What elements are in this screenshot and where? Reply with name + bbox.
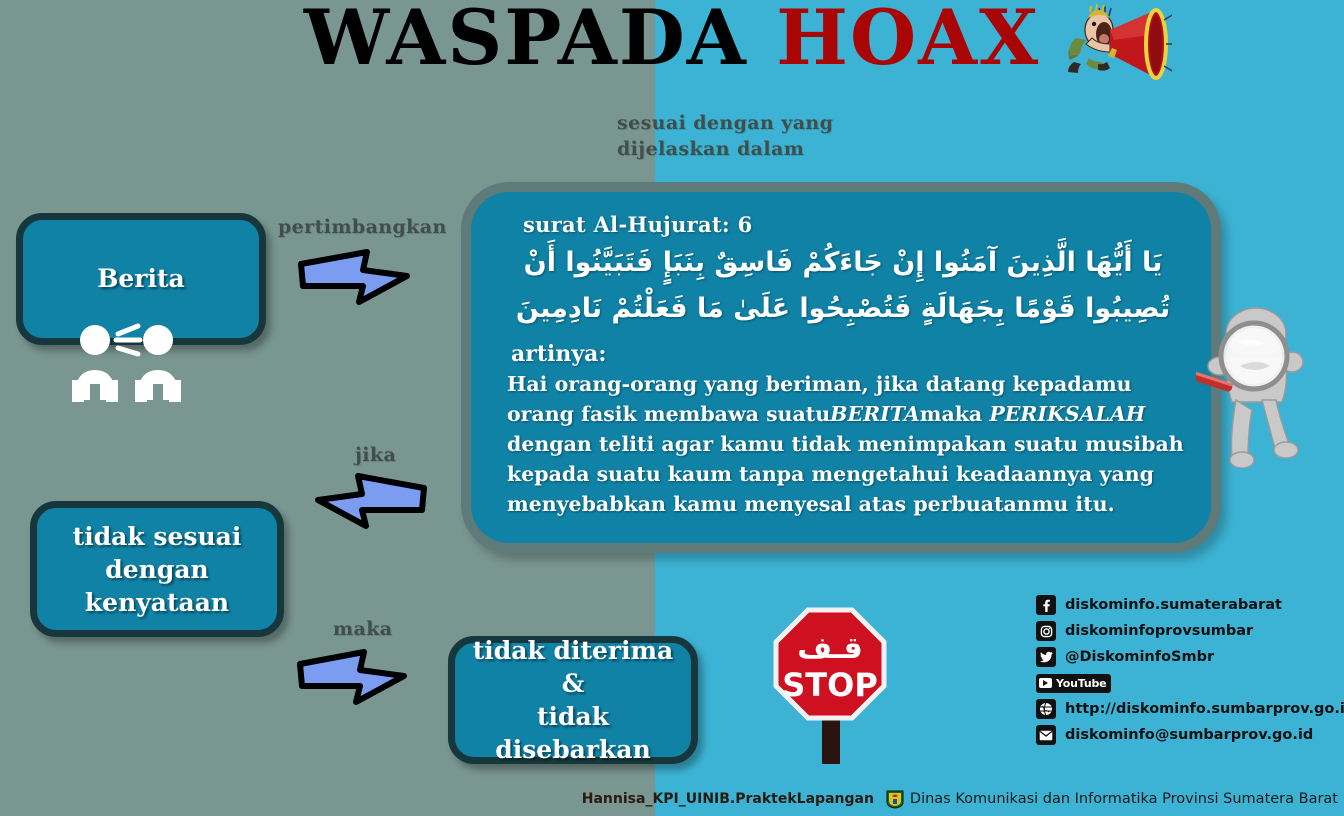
verse-meaning-label: artinya:	[511, 341, 1193, 367]
label-sesuai-line2: dijelaskan dalam	[617, 136, 833, 162]
figure-with-magnifying-glass-icon	[1196, 300, 1314, 468]
contact-row-website[interactable]: http://diskominfo.sumbarprov.go.id	[1036, 696, 1344, 722]
arrow-right-maka	[296, 648, 408, 710]
box-tidak-sesuai-dengan-kenyataan[interactable]: tidak sesuaidengankenyataan	[30, 501, 284, 637]
contact-row-instagram[interactable]: diskominfoprovsumbar	[1036, 618, 1344, 644]
footer-bar: Hannisa_KPI_UINIB.PraktekLapangan Dinas …	[0, 782, 1344, 816]
box-berita-label: Berita	[97, 264, 184, 293]
megaphone-shouting-icon	[1052, 4, 1172, 86]
verse-arabic-line-2: تُصِيبُوا قَوْمًا بِجَهَالَةٍ فَتُصْبِحُ…	[497, 287, 1189, 331]
footer-credit: Hannisa_KPI_UINIB.PraktekLapangan	[582, 791, 874, 807]
translation-emphasis-berita: BERITA	[830, 402, 920, 426]
globe-icon	[1036, 699, 1056, 719]
box-tidak-diterima-tidak-disebarkan[interactable]: tidak diterima&tidak disebarkan	[448, 636, 698, 764]
two-people-talking-icon	[60, 322, 200, 402]
facebook-icon	[1036, 595, 1056, 615]
stop-sign-icon: قـف STOP	[772, 606, 888, 766]
contact-list: diskominfo.sumaterabarat diskominfoprovs…	[1036, 592, 1344, 748]
quran-verse-panel: surat Al-Hujurat: 6 يَا أَيُّهَا الَّذِي…	[461, 182, 1221, 553]
twitter-icon	[1036, 647, 1056, 667]
contact-row-twitter[interactable]: @DiskominfoSmbr	[1036, 644, 1344, 670]
translation-post: dengan teliti agar kamu tidak menimpakan…	[507, 432, 1184, 516]
verse-source-label: surat Al-Hujurat: 6	[523, 212, 1193, 237]
contact-text-youtube: YouTube	[1056, 677, 1106, 690]
label-maka: maka	[333, 617, 393, 641]
translation-emphasis-periksalah: PERIKSALAH	[989, 402, 1145, 426]
contact-text-facebook: diskominfo.sumaterabarat	[1065, 597, 1282, 613]
contact-text-instagram: diskominfoprovsumbar	[1065, 623, 1253, 639]
label-sesuai-dengan: sesuai dengan yang dijelaskan dalam	[617, 110, 833, 162]
box-tidak-sesuai-label: tidak sesuaidengankenyataan	[73, 520, 242, 619]
label-sesuai-line1: sesuai dengan yang	[617, 110, 833, 136]
contact-text-email: diskominfo@sumbarprov.go.id	[1065, 727, 1313, 743]
title-waspada: WASPADA	[304, 0, 776, 82]
stop-sign-latin: STOP	[782, 666, 878, 704]
verse-arabic-line-1: يَا أَيُّهَا الَّذِينَ آمَنُوا إِنْ جَاء…	[497, 241, 1189, 285]
contact-row-email[interactable]: diskominfo@sumbarprov.go.id	[1036, 722, 1344, 748]
infographic-canvas: WASPADA HOAX	[0, 0, 1344, 816]
contact-text-twitter: @DiskominfoSmbr	[1065, 649, 1214, 665]
arrow-right-pertimbangkan	[297, 246, 411, 308]
footer-organization: Dinas Komunikasi dan Informatika Provins…	[910, 791, 1338, 807]
label-pertimbangkan: pertimbangkan	[278, 215, 447, 239]
email-icon	[1036, 725, 1056, 745]
youtube-play-glyph	[1039, 678, 1052, 688]
west-sumatra-emblem-icon	[886, 789, 904, 809]
box-tidak-diterima-label: tidak diterima&tidak disebarkan	[455, 634, 691, 766]
verse-translation-text: Hai orang-orang yang beriman, jika datan…	[507, 369, 1187, 519]
contact-text-website: http://diskominfo.sumbarprov.go.id	[1065, 701, 1344, 717]
contact-row-facebook[interactable]: diskominfo.sumaterabarat	[1036, 592, 1344, 618]
stop-sign-arabic: قـف	[797, 631, 863, 666]
youtube-icon: YouTube	[1036, 674, 1111, 693]
label-jika: jika	[355, 443, 396, 467]
title-hoax: HOAX	[776, 0, 1040, 82]
arrow-left-jika	[312, 472, 428, 534]
instagram-icon	[1036, 621, 1056, 641]
contact-row-youtube[interactable]: YouTube	[1036, 670, 1344, 696]
translation-mid: maka	[920, 402, 990, 426]
